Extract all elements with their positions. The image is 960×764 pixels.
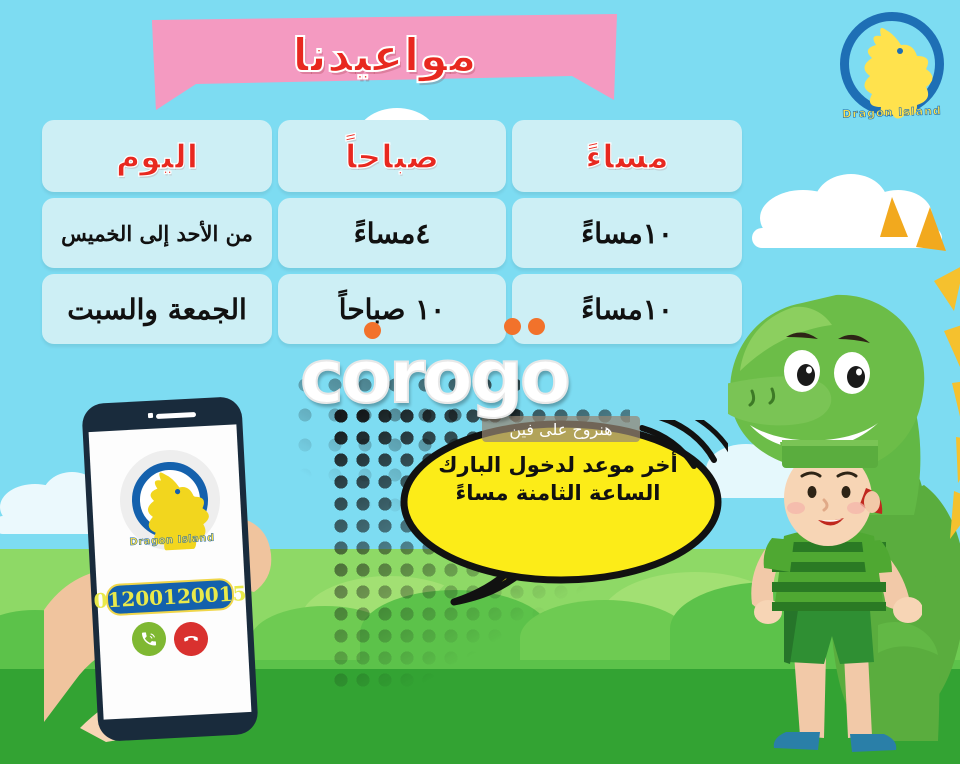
- banner-title: مواعيدنا: [152, 20, 617, 90]
- watermark-text: corogo: [300, 340, 640, 414]
- row1-morning-value: ٤مساءً: [354, 217, 431, 250]
- row2-evening-value: ١٠مساءً: [581, 293, 673, 326]
- brand-logo: Dragon Island: [836, 8, 948, 120]
- phone-hangup-icon: [182, 630, 201, 649]
- watermark-dot-mid: [504, 318, 521, 335]
- schedule-table: مساءً صباحاً اليوم ١٠مساءً ٤مساءً من الأ…: [36, 120, 742, 350]
- notice-text: أخر موعد لدخول البارك الساعة الثامنة مسا…: [418, 452, 698, 507]
- boy-character: [732, 440, 922, 760]
- header-morning-label: صباحاً: [345, 137, 439, 176]
- speech-bubble: أخر موعد لدخول البارك الساعة الثامنة مسا…: [398, 420, 718, 595]
- notice-line-2: الساعة الثامنة مساءً: [418, 480, 698, 508]
- row1-day-value: من الأحد إلى الخميس: [61, 221, 253, 246]
- phone-in-hand: Dragon Island 01200120015: [44, 398, 294, 764]
- phone-call-icon: [140, 630, 159, 649]
- phone-brand-logo: Dragon Island: [117, 447, 222, 552]
- phone-camera-icon: [148, 413, 153, 418]
- header-evening-label: مساءً: [585, 137, 668, 176]
- row2-day-value: الجمعة والسبت: [67, 293, 247, 326]
- watermark-dot-left: [364, 322, 381, 339]
- banner-ribbon: مواعيدنا: [152, 14, 617, 108]
- watermark: corogo هنروح على فين: [300, 340, 640, 440]
- header-cell-day: اليوم: [42, 120, 272, 192]
- header-cell-morning: صباحاً: [278, 120, 506, 192]
- phone-number[interactable]: 01200120015: [105, 578, 234, 617]
- row1-evening-value: ١٠مساءً: [581, 217, 673, 250]
- row1-cell-morning: ٤مساءً: [278, 198, 506, 268]
- row1-cell-evening: ١٠مساءً: [512, 198, 742, 268]
- row1-cell-day: من الأحد إلى الخميس: [42, 198, 272, 268]
- watermark-dot-right: [528, 318, 545, 335]
- notice-line-1: أخر موعد لدخول البارك: [418, 452, 698, 480]
- poster-canvas: أخر موعد لدخول البارك الساعة الثامنة مسا…: [0, 0, 960, 764]
- header-cell-evening: مساءً: [512, 120, 742, 192]
- header-day-label: اليوم: [116, 137, 198, 176]
- schedule-header-row: مساءً صباحاً اليوم: [36, 120, 742, 192]
- schedule-row-1: ١٠مساءً ٤مساءً من الأحد إلى الخميس: [36, 198, 742, 268]
- row2-morning-value: ١٠ صباحاً: [339, 293, 445, 326]
- dragon-head-icon: [836, 8, 948, 120]
- row2-cell-day: الجمعة والسبت: [42, 274, 272, 344]
